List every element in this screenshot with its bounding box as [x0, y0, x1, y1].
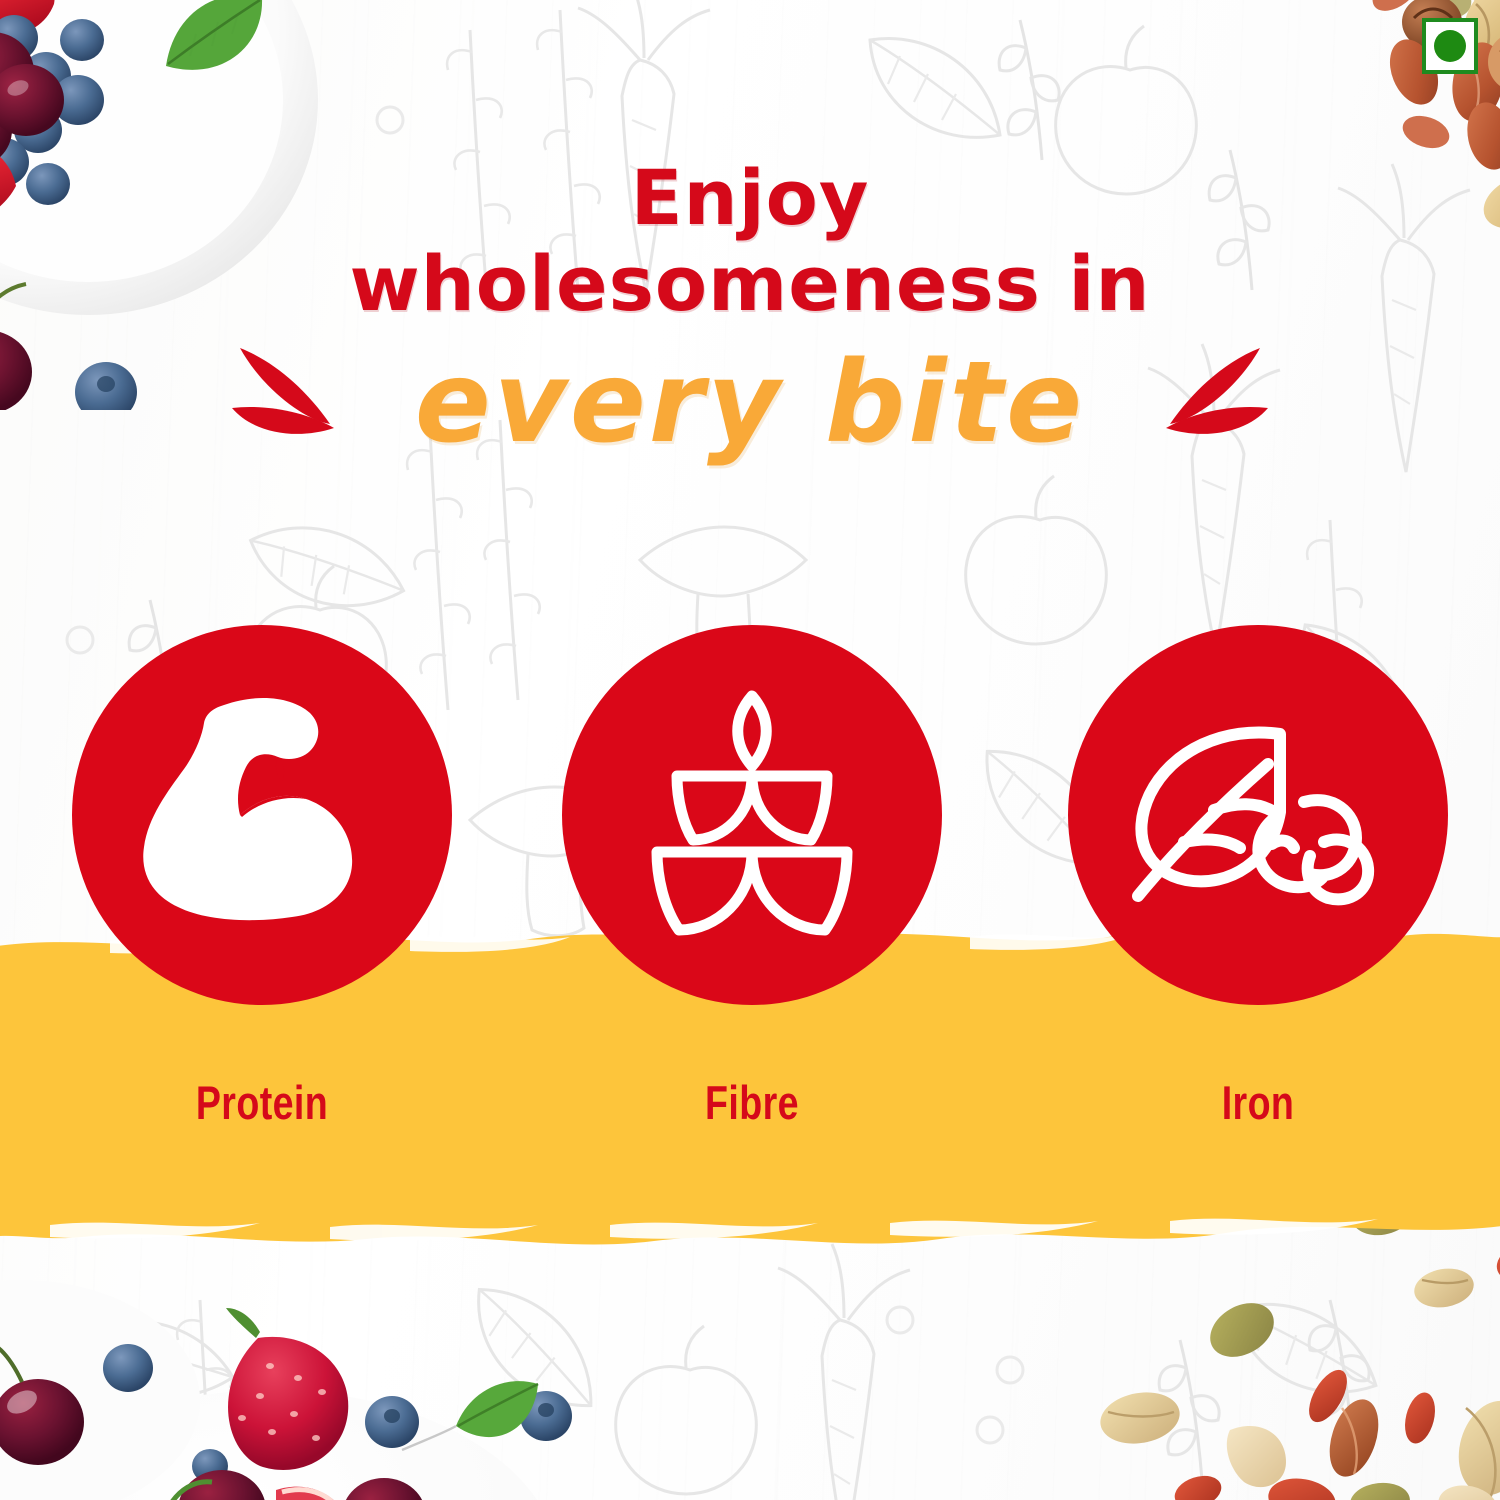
benefit-iron-circle[interactable]: [1068, 625, 1448, 1005]
poster-canvas: Enjoy wholesomeness in every bite: [0, 0, 1500, 1500]
wheat-grain-icon: [637, 690, 867, 940]
headline-line-3: every bite: [415, 347, 1085, 459]
headline-block: Enjoy wholesomeness in every bite: [0, 160, 1500, 478]
headline-line-1: Enjoy: [0, 160, 1500, 236]
vegetarian-mark-icon: [1422, 18, 1478, 74]
benefit-fibre[interactable]: Fibre: [562, 625, 942, 1130]
red-emphasis-dashes-left-icon: [232, 340, 362, 450]
benefit-protein-label: Protein: [110, 1075, 414, 1130]
vegetarian-green-dot: [1434, 30, 1466, 62]
benefit-protein[interactable]: Protein: [72, 625, 452, 1130]
flexed-biceps-icon: [132, 695, 392, 935]
headline-line-2: wholesomeness in: [0, 246, 1500, 322]
benefit-fibre-circle[interactable]: [562, 625, 942, 1005]
headline-script-row: every bite: [0, 328, 1500, 478]
benefit-protein-circle[interactable]: [72, 625, 452, 1005]
red-emphasis-dashes-right-icon: [1138, 340, 1268, 450]
benefit-iron-label: Iron: [1106, 1075, 1410, 1130]
benefit-fibre-label: Fibre: [600, 1075, 904, 1130]
leaf-berry-icon: [1128, 720, 1388, 910]
benefit-iron[interactable]: Iron: [1068, 625, 1448, 1130]
